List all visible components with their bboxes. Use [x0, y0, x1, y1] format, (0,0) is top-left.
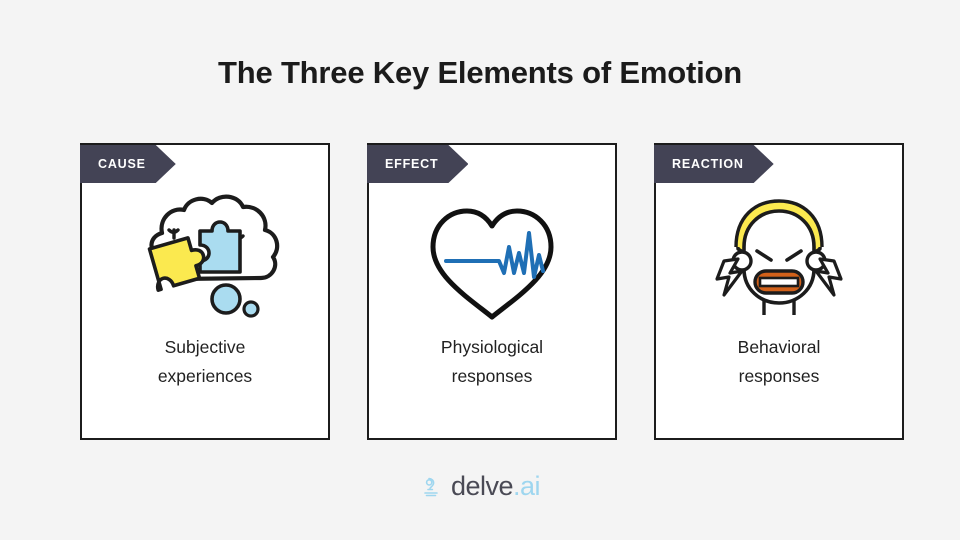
logo-name: delve	[451, 471, 513, 501]
card-cause[interactable]: CAUSE	[80, 143, 330, 440]
ribbon-label-reaction: REACTION	[654, 145, 774, 183]
caption-line-1: Behavioral	[669, 333, 889, 362]
thought-cloud-puzzle-icon	[110, 189, 300, 329]
ribbon-label-effect: EFFECT	[367, 145, 468, 183]
caption-line-2: responses	[669, 362, 889, 391]
logo-wordmark: delve.ai	[451, 471, 540, 502]
caption-line-2: experiences	[95, 362, 315, 391]
slide-root: The Three Key Elements of Emotion CAUSE	[0, 0, 960, 540]
card-caption-effect: Physiological responses	[382, 333, 602, 391]
footer-logo[interactable]: delve.ai	[0, 471, 960, 502]
ribbon-label-cause: CAUSE	[80, 145, 176, 183]
heart-ecg-icon	[397, 189, 587, 329]
blue-puzzle-piece	[200, 222, 240, 272]
page-title: The Three Key Elements of Emotion	[0, 55, 960, 91]
microscope-icon	[420, 474, 442, 500]
card-effect[interactable]: EFFECT Physiological responses	[367, 143, 617, 440]
card-caption-cause: Subjective experiences	[95, 333, 315, 391]
caption-line-1: Physiological	[382, 333, 602, 362]
logo-suffix: .ai	[513, 471, 540, 501]
cards-row: CAUSE	[80, 143, 904, 440]
card-caption-reaction: Behavioral responses	[669, 333, 889, 391]
caption-line-1: Subjective	[95, 333, 315, 362]
card-reaction[interactable]: REACTION	[654, 143, 904, 440]
caption-line-2: responses	[382, 362, 602, 391]
angry-face-lightning-icon	[684, 189, 874, 329]
